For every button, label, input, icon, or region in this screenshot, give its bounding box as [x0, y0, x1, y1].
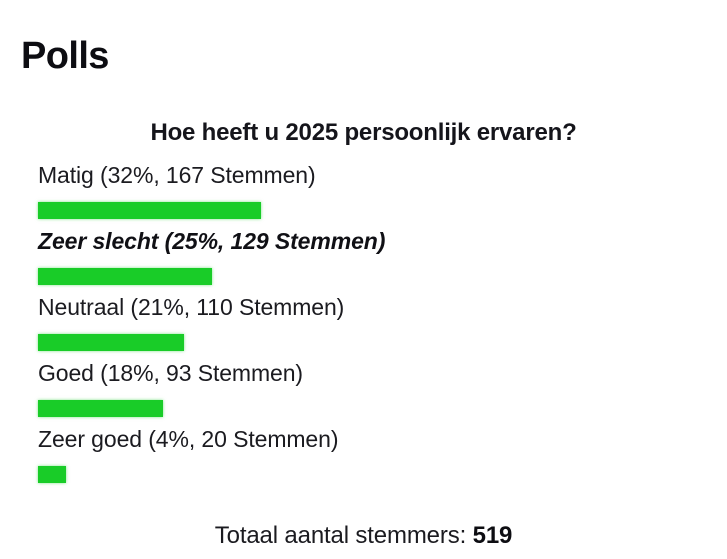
total-voters-line: Totaal aantal stemmers: 519 [0, 521, 727, 551]
poll-bar-track-neutraal [38, 334, 698, 351]
poll-results-list: Matig (32%, 167 Stemmen) Zeer slecht (25… [38, 158, 698, 488]
poll-option-label-zeer-slecht: Zeer slecht (25%, 129 Stemmen) [38, 224, 698, 255]
total-voters-count: 519 [473, 522, 513, 549]
poll-bar-fill-goed [38, 400, 163, 417]
poll-option-label-matig: Matig (32%, 167 Stemmen) [38, 158, 698, 189]
poll-result-row: Zeer goed (4%, 20 Stemmen) [38, 422, 698, 488]
poll-bar-fill-matig [38, 202, 261, 219]
total-voters-label: Totaal aantal stemmers: [215, 522, 466, 549]
poll-result-row: Zeer slecht (25%, 129 Stemmen) [38, 224, 698, 290]
poll-result-row: Goed (18%, 93 Stemmen) [38, 356, 698, 422]
page-title: Polls [21, 33, 109, 79]
poll-option-label-goed: Goed (18%, 93 Stemmen) [38, 356, 698, 387]
poll-bar-track-zeer-slecht [38, 268, 698, 285]
poll-option-label-neutraal: Neutraal (21%, 110 Stemmen) [38, 290, 698, 321]
poll-bar-fill-neutraal [38, 334, 184, 351]
poll-bar-track-zeer-goed [38, 466, 698, 483]
poll-result-row: Neutraal (21%, 110 Stemmen) [38, 290, 698, 356]
poll-bar-fill-zeer-slecht [38, 268, 212, 285]
poll-result-row: Matig (32%, 167 Stemmen) [38, 158, 698, 224]
poll-option-label-zeer-goed: Zeer goed (4%, 20 Stemmen) [38, 422, 698, 453]
poll-results-page: Polls Hoe heeft u 2025 persoonlijk ervar… [0, 0, 727, 559]
poll-question: Hoe heeft u 2025 persoonlijk ervaren? [0, 118, 727, 148]
poll-bar-track-matig [38, 202, 698, 219]
poll-bar-track-goed [38, 400, 698, 417]
poll-bar-fill-zeer-goed [38, 466, 66, 483]
